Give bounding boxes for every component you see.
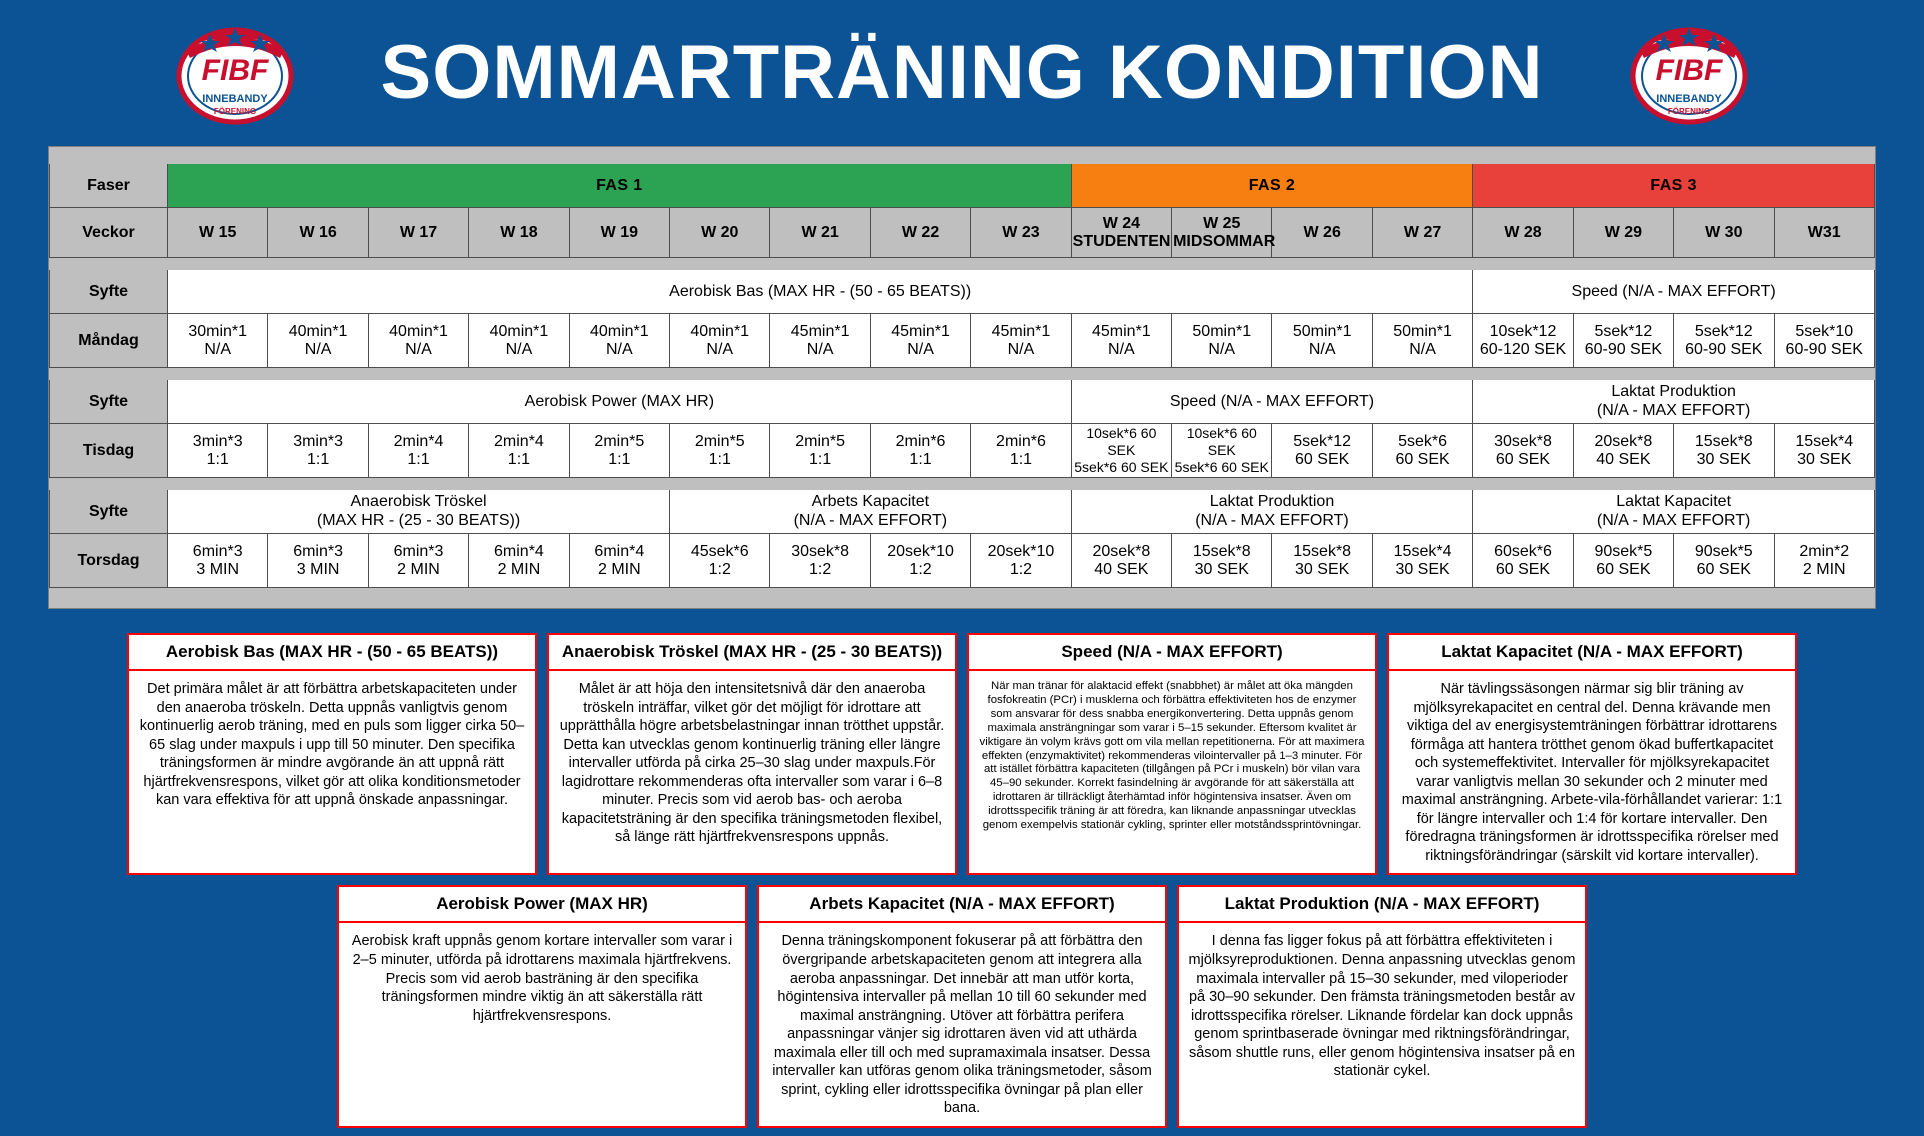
session-cell[interactable]: 90sek*560 SEK xyxy=(1573,534,1673,588)
info-box-title: Aerobisk Bas (MAX HR - (50 - 65 BEATS)) xyxy=(129,635,535,671)
phase-cell-2: FAS 2 xyxy=(1071,164,1473,208)
session-cell[interactable]: 10sek*6 60 SEK5sek*6 60 SEK xyxy=(1172,424,1272,478)
table-spacer-row xyxy=(50,154,1875,164)
session-cell[interactable]: 30sek*81:2 xyxy=(770,534,870,588)
week-cell[interactable]: W 24STUDENTEN xyxy=(1071,208,1171,258)
session-cell[interactable]: 2min*22 MIN xyxy=(1774,534,1875,588)
session-cell[interactable]: 20sek*840 SEK xyxy=(1071,534,1171,588)
purpose-row-monday: SyfteAerobisk Bas (MAX HR - (50 - 65 BEA… xyxy=(50,270,1875,314)
info-box-body: Målet är att höja den intensitetsnivå dä… xyxy=(549,671,955,855)
info-box-body: Det primära målet är att förbättra arbet… xyxy=(129,671,535,818)
day-row-monday: Måndag30min*1N/A40min*1N/A40min*1N/A40mi… xyxy=(50,314,1875,368)
phase-cell-3: FAS 3 xyxy=(1473,164,1875,208)
info-box-title: Anaerobisk Tröskel (MAX HR - (25 - 30 BE… xyxy=(549,635,955,671)
spacer-cell xyxy=(50,588,1875,600)
week-cell[interactable]: W 16 xyxy=(268,208,368,258)
purpose-row-thursday: SyfteAnaerobisk Tröskel(MAX HR - (25 - 3… xyxy=(50,490,1875,534)
weeks-row: VeckorW 15W 16W 17W 18W 19W 20W 21W 22W … xyxy=(50,208,1875,258)
info-box-title: Laktat Produktion (N/A - MAX EFFORT) xyxy=(1179,887,1585,923)
info-box-aerobisk-bas: Aerobisk Bas (MAX HR - (50 - 65 BEATS)) … xyxy=(127,633,537,875)
session-cell[interactable]: 45min*1N/A xyxy=(770,314,870,368)
session-cell[interactable]: 15sek*430 SEK xyxy=(1372,534,1472,588)
svg-text:FIBF: FIBF xyxy=(1656,54,1723,87)
day-row-tuesday: Tisdag3min*31:13min*31:12min*41:12min*41… xyxy=(50,424,1875,478)
session-cell[interactable]: 15sek*830 SEK xyxy=(1674,424,1774,478)
row-label-purpose: Syfte xyxy=(50,380,168,424)
session-cell[interactable]: 90sek*560 SEK xyxy=(1674,534,1774,588)
info-box-title: Arbets Kapacitet (N/A - MAX EFFORT) xyxy=(759,887,1165,923)
session-cell[interactable]: 20sek*101:2 xyxy=(870,534,970,588)
session-cell[interactable]: 6min*33 MIN xyxy=(268,534,368,588)
phases-row: FaserFAS 1FAS 2FAS 3 xyxy=(50,164,1875,208)
row-label-phases: Faser xyxy=(50,164,168,208)
purpose-cell: Laktat Kapacitet(N/A - MAX EFFORT) xyxy=(1473,490,1875,534)
info-box-laktat-kapacitet: Laktat Kapacitet (N/A - MAX EFFORT) När … xyxy=(1387,633,1797,875)
falu-ibf-logo-left-icon: FIBF INNEBANDY FÖRENING xyxy=(160,14,310,132)
info-box-arbets-kapacitet: Arbets Kapacitet (N/A - MAX EFFORT) Denn… xyxy=(757,885,1167,1127)
training-schedule-table: FaserFAS 1FAS 2FAS 3VeckorW 15W 16W 17W … xyxy=(49,153,1875,600)
session-cell[interactable]: 10sek*6 60 SEK5sek*6 60 SEK xyxy=(1071,424,1171,478)
session-cell[interactable]: 5sek*1260-90 SEK xyxy=(1573,314,1673,368)
purpose-cell: Arbets Kapacitet(N/A - MAX EFFORT) xyxy=(670,490,1072,534)
table-spacer-row xyxy=(50,588,1875,600)
session-cell[interactable]: 2min*61:1 xyxy=(870,424,970,478)
svg-text:FÖRENING: FÖRENING xyxy=(214,107,256,116)
session-cell[interactable]: 50min*1N/A xyxy=(1272,314,1372,368)
session-cell[interactable]: 45min*1N/A xyxy=(870,314,970,368)
spacer-cell xyxy=(50,478,1875,490)
week-cell[interactable]: W 30 xyxy=(1674,208,1774,258)
page-title: SOMMARTRÄNING KONDITION xyxy=(310,35,1614,111)
session-cell[interactable]: 40min*1N/A xyxy=(670,314,770,368)
row-label-purpose: Syfte xyxy=(50,490,168,534)
session-cell[interactable]: 2min*51:1 xyxy=(569,424,669,478)
session-cell[interactable]: 30min*1N/A xyxy=(168,314,268,368)
info-box-row-2: Aerobisk Power (MAX HR) Aerobisk kraft u… xyxy=(48,885,1876,1127)
svg-text:FIBF: FIBF xyxy=(202,54,269,87)
session-cell[interactable]: 45min*1N/A xyxy=(1071,314,1171,368)
info-box-title: Aerobisk Power (MAX HR) xyxy=(339,887,745,923)
week-cell[interactable]: W 28 xyxy=(1473,208,1573,258)
row-label-weeks: Veckor xyxy=(50,208,168,258)
purpose-cell: Laktat Produktion(N/A - MAX EFFORT) xyxy=(1473,380,1875,424)
session-cell[interactable]: 40min*1N/A xyxy=(569,314,669,368)
row-label-tuesday: Tisdag xyxy=(50,424,168,478)
purpose-cell: Aerobisk Power (MAX HR) xyxy=(168,380,1072,424)
falu-ibf-logo-right-icon: FIBF INNEBANDY FÖRENING xyxy=(1614,14,1764,132)
session-cell[interactable]: 5sek*1260-90 SEK xyxy=(1674,314,1774,368)
info-box-anaerobisk-troskel: Anaerobisk Tröskel (MAX HR - (25 - 30 BE… xyxy=(547,633,957,875)
session-cell[interactable]: 6min*42 MIN xyxy=(469,534,569,588)
session-cell[interactable]: 6min*33 MIN xyxy=(168,534,268,588)
session-cell[interactable]: 3min*31:1 xyxy=(168,424,268,478)
info-box-aerobisk-power: Aerobisk Power (MAX HR) Aerobisk kraft u… xyxy=(337,885,747,1127)
session-cell[interactable]: 2min*41:1 xyxy=(368,424,468,478)
info-box-title: Speed (N/A - MAX EFFORT) xyxy=(969,635,1375,671)
session-cell[interactable]: 3min*31:1 xyxy=(268,424,368,478)
info-box-section: Aerobisk Bas (MAX HR - (50 - 65 BEATS)) … xyxy=(48,633,1876,1128)
session-cell[interactable]: 20sek*101:2 xyxy=(971,534,1071,588)
purpose-cell: Speed (N/A - MAX EFFORT) xyxy=(1071,380,1473,424)
table-spacer-row xyxy=(50,478,1875,490)
info-box-body: Denna träningskomponent fokuserar på att… xyxy=(759,923,1165,1125)
page-header: FIBF INNEBANDY FÖRENING SOMMARTRÄNING KO… xyxy=(0,0,1924,146)
session-cell[interactable]: 40min*1N/A xyxy=(268,314,368,368)
session-cell[interactable]: 60sek*660 SEK xyxy=(1473,534,1573,588)
session-cell[interactable]: 15sek*430 SEK xyxy=(1774,424,1875,478)
schedule-table-wrapper: FaserFAS 1FAS 2FAS 3VeckorW 15W 16W 17W … xyxy=(48,146,1876,609)
session-cell[interactable]: 6min*42 MIN xyxy=(569,534,669,588)
purpose-cell: Anaerobisk Tröskel(MAX HR - (25 - 30 BEA… xyxy=(168,490,670,534)
session-cell[interactable]: 50min*1N/A xyxy=(1172,314,1272,368)
session-cell[interactable]: 15sek*830 SEK xyxy=(1272,534,1372,588)
info-box-body: När tävlingssäsongen närmar sig blir trä… xyxy=(1389,671,1795,873)
session-cell[interactable]: 50min*1N/A xyxy=(1372,314,1472,368)
week-cell[interactable]: W 26 xyxy=(1272,208,1372,258)
session-cell[interactable]: 2min*51:1 xyxy=(770,424,870,478)
week-cell[interactable]: W 25MIDSOMMAR xyxy=(1172,208,1272,258)
info-box-body: Aerobisk kraft uppnås genom kortare inte… xyxy=(339,923,745,1033)
session-cell[interactable]: 40min*1N/A xyxy=(469,314,569,368)
session-cell[interactable]: 5sek*1260 SEK xyxy=(1272,424,1372,478)
session-cell[interactable]: 45sek*61:2 xyxy=(670,534,770,588)
week-cell[interactable]: W 23 xyxy=(971,208,1071,258)
week-cell[interactable]: W31 xyxy=(1774,208,1875,258)
info-box-row-1: Aerobisk Bas (MAX HR - (50 - 65 BEATS)) … xyxy=(48,633,1876,875)
session-cell[interactable]: 10sek*1260-120 SEK xyxy=(1473,314,1573,368)
svg-text:INNEBANDY: INNEBANDY xyxy=(1656,93,1722,105)
week-cell[interactable]: W 17 xyxy=(368,208,468,258)
week-cell[interactable]: W 18 xyxy=(469,208,569,258)
spacer-cell xyxy=(50,368,1875,380)
week-cell[interactable]: W 21 xyxy=(770,208,870,258)
row-label-thursday: Torsdag xyxy=(50,534,168,588)
session-cell[interactable]: 20sek*840 SEK xyxy=(1573,424,1673,478)
week-cell[interactable]: W 22 xyxy=(870,208,970,258)
session-cell[interactable]: 2min*61:1 xyxy=(971,424,1071,478)
session-cell[interactable]: 30sek*860 SEK xyxy=(1473,424,1573,478)
week-cell[interactable]: W 19 xyxy=(569,208,669,258)
session-cell[interactable]: 45min*1N/A xyxy=(971,314,1071,368)
info-box-title: Laktat Kapacitet (N/A - MAX EFFORT) xyxy=(1389,635,1795,671)
row-label-purpose: Syfte xyxy=(50,270,168,314)
svg-text:FÖRENING: FÖRENING xyxy=(1668,107,1710,116)
info-box-body: I denna fas ligger fokus på att förbättr… xyxy=(1179,923,1585,1088)
table-spacer-row xyxy=(50,258,1875,270)
info-box-speed: Speed (N/A - MAX EFFORT) När man tränar … xyxy=(967,633,1377,875)
spacer-cell xyxy=(50,258,1875,270)
phase-cell-1: FAS 1 xyxy=(168,164,1072,208)
purpose-row-tuesday: SyfteAerobisk Power (MAX HR)Speed (N/A -… xyxy=(50,380,1875,424)
svg-text:INNEBANDY: INNEBANDY xyxy=(202,93,268,105)
session-cell[interactable]: 40min*1N/A xyxy=(368,314,468,368)
session-cell[interactable]: 15sek*830 SEK xyxy=(1172,534,1272,588)
week-cell[interactable]: W 15 xyxy=(168,208,268,258)
purpose-cell: Aerobisk Bas (MAX HR - (50 - 65 BEATS)) xyxy=(168,270,1473,314)
week-cell[interactable]: W 20 xyxy=(670,208,770,258)
session-cell[interactable]: 2min*41:1 xyxy=(469,424,569,478)
info-box-laktat-produktion: Laktat Produktion (N/A - MAX EFFORT) I d… xyxy=(1177,885,1587,1127)
session-cell[interactable]: 2min*51:1 xyxy=(670,424,770,478)
spacer-cell xyxy=(50,154,1875,164)
purpose-cell: Speed (N/A - MAX EFFORT) xyxy=(1473,270,1875,314)
info-box-body: När man tränar för alaktacid effekt (sna… xyxy=(969,671,1375,841)
day-row-thursday: Torsdag6min*33 MIN6min*33 MIN6min*32 MIN… xyxy=(50,534,1875,588)
session-cell[interactable]: 6min*32 MIN xyxy=(368,534,468,588)
row-label-monday: Måndag xyxy=(50,314,168,368)
session-cell[interactable]: 5sek*660 SEK xyxy=(1372,424,1472,478)
week-cell[interactable]: W 29 xyxy=(1573,208,1673,258)
table-spacer-row xyxy=(50,368,1875,380)
session-cell[interactable]: 5sek*1060-90 SEK xyxy=(1774,314,1875,368)
week-cell[interactable]: W 27 xyxy=(1372,208,1472,258)
purpose-cell: Laktat Produktion(N/A - MAX EFFORT) xyxy=(1071,490,1473,534)
